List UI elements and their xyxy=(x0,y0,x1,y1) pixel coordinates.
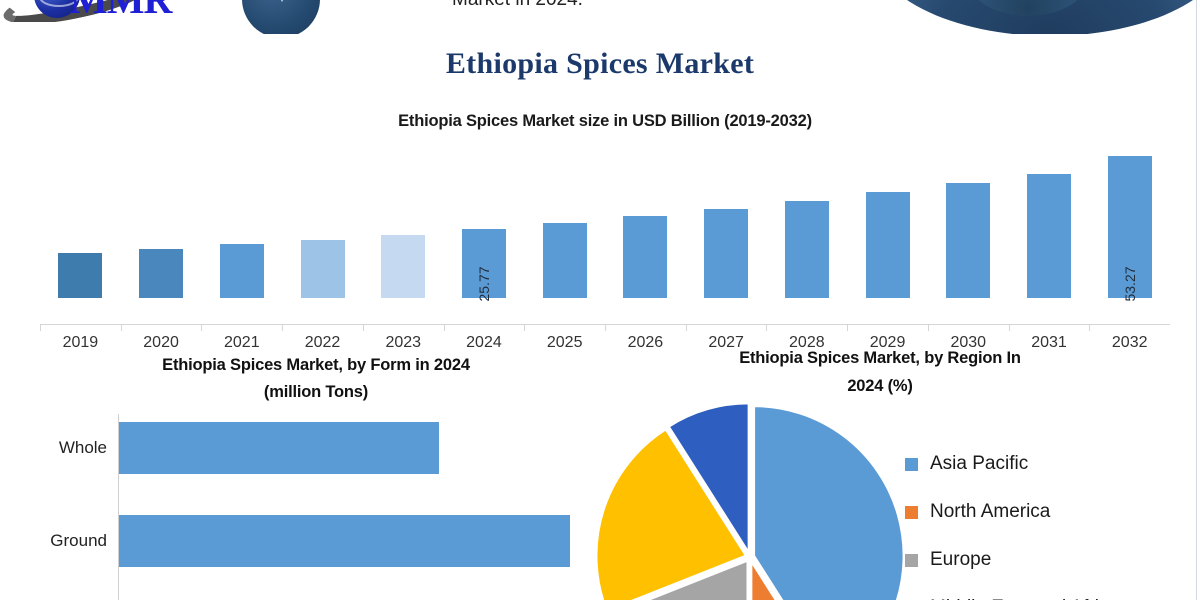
by-form-row-whole: Whole xyxy=(119,422,589,474)
legend-label: Europe xyxy=(930,549,991,571)
bar-2028[interactable] xyxy=(785,201,829,298)
bar-chart-plot-area: 25.7753.27 20192020202120222023202420252… xyxy=(40,138,1170,298)
by-region-title-line2: 2024 (%) xyxy=(847,377,912,395)
x-axis-tick xyxy=(1009,324,1090,332)
infographic-page: MMR Market in 2024. Ethiopia Spices Mark… xyxy=(0,0,1200,600)
bar-value-label: 25.77 xyxy=(476,266,492,301)
by-form-title-line2: (million Tons) xyxy=(264,383,368,401)
navy-circle-badge-icon xyxy=(242,0,320,34)
by-form-category-label: Whole xyxy=(59,438,107,458)
logo-text: MMR xyxy=(70,0,171,22)
x-axis-tick xyxy=(766,324,847,332)
bar-2030[interactable] xyxy=(946,183,990,298)
bar-2026[interactable] xyxy=(623,216,667,298)
legend-item[interactable]: Asia Pacific xyxy=(905,440,1200,488)
bar-cell xyxy=(40,138,121,298)
x-axis-label-2023: 2023 xyxy=(363,334,444,352)
bar-cell: 25.77 xyxy=(444,138,525,298)
x-axis-tick xyxy=(121,324,202,332)
x-axis-tick xyxy=(686,324,767,332)
legend-item[interactable]: Middle East and Africa xyxy=(905,584,1200,600)
bar-2022[interactable] xyxy=(301,240,345,298)
x-axis-label-2024: 2024 xyxy=(444,334,525,352)
header-note: Market in 2024. xyxy=(452,0,782,13)
by-form-bar-ground[interactable] xyxy=(119,515,570,567)
header-band: MMR Market in 2024. xyxy=(0,0,1200,34)
x-axis-tick xyxy=(1089,324,1170,332)
bar-2023[interactable] xyxy=(381,235,425,298)
x-axis-label-2020: 2020 xyxy=(121,334,202,352)
by-form-plot-area: WholeGround xyxy=(118,414,588,600)
bar-2024[interactable]: 25.77 xyxy=(462,229,506,298)
pie-slice-asia-pacific[interactable] xyxy=(754,406,904,600)
by-form-chart-title: Ethiopia Spices Market, by Form in 2024 … xyxy=(36,352,596,406)
bar-2029[interactable] xyxy=(866,192,910,298)
page-title: Ethiopia Spices Market xyxy=(0,47,1200,81)
x-axis-tick xyxy=(282,324,363,332)
x-axis-ticks xyxy=(40,324,1170,332)
bar-cell xyxy=(847,138,928,298)
x-axis-tick xyxy=(444,324,525,332)
x-axis-tick xyxy=(363,324,444,332)
x-axis-tick xyxy=(847,324,928,332)
x-axis-tick xyxy=(605,324,686,332)
x-axis-label-2019: 2019 xyxy=(40,334,121,352)
bar-cell xyxy=(766,138,847,298)
page-right-border xyxy=(1196,0,1197,600)
by-region-pie-chart: Ethiopia Spices Market, by Region In 202… xyxy=(600,344,1200,600)
bar-cell xyxy=(201,138,282,298)
bar-2031[interactable] xyxy=(1027,174,1071,298)
market-size-bar-chart: Ethiopia Spices Market size in USD Billi… xyxy=(40,112,1170,327)
x-axis-tick xyxy=(524,324,605,332)
bar-cell xyxy=(282,138,363,298)
bar-2020[interactable] xyxy=(139,249,183,298)
bar-cell xyxy=(1009,138,1090,298)
bar-cell xyxy=(605,138,686,298)
bar-cell xyxy=(363,138,444,298)
bar-2019[interactable] xyxy=(58,253,102,298)
pie-svg xyxy=(595,402,905,600)
x-axis-label-2021: 2021 xyxy=(201,334,282,352)
legend-item[interactable]: Europe xyxy=(905,536,1200,584)
bar-cell xyxy=(686,138,767,298)
by-region-chart-title: Ethiopia Spices Market, by Region In 202… xyxy=(630,344,1130,400)
legend-label: North America xyxy=(930,501,1050,523)
badge-chevron-icon xyxy=(274,0,290,2)
bar-cell xyxy=(928,138,1009,298)
bar-series: 25.7753.27 xyxy=(40,138,1170,298)
mmr-logo[interactable]: MMR xyxy=(0,0,215,22)
bar-value-label: 53.27 xyxy=(1122,266,1138,301)
by-form-category-label: Ground xyxy=(50,531,107,551)
x-axis-tick xyxy=(40,324,121,332)
bar-chart-title: Ethiopia Spices Market size in USD Billi… xyxy=(40,112,1170,131)
x-axis-tick xyxy=(201,324,282,332)
by-form-row-ground: Ground xyxy=(119,515,589,567)
legend-label: Asia Pacific xyxy=(930,453,1028,475)
bar-2021[interactable] xyxy=(220,244,264,298)
pie-legend: Asia PacificNorth AmericaEuropeMiddle Ea… xyxy=(905,440,1200,600)
legend-swatch-icon xyxy=(905,506,918,519)
bar-cell xyxy=(524,138,605,298)
pie-graphic xyxy=(595,402,905,600)
bar-2032[interactable]: 53.27 xyxy=(1108,156,1152,298)
x-axis-label-2022: 2022 xyxy=(282,334,363,352)
x-axis-label-2025: 2025 xyxy=(524,334,605,352)
bar-2027[interactable] xyxy=(704,209,748,298)
by-region-title-line1: Ethiopia Spices Market, by Region In xyxy=(739,349,1021,367)
by-form-bar-whole[interactable] xyxy=(119,422,439,474)
legend-item[interactable]: North America xyxy=(905,488,1200,536)
bar-cell xyxy=(121,138,202,298)
by-form-title-line1: Ethiopia Spices Market, by Form in 2024 xyxy=(162,356,470,374)
bar-cell: 53.27 xyxy=(1089,138,1170,298)
x-axis-tick xyxy=(928,324,1009,332)
legend-swatch-icon xyxy=(905,458,918,471)
bar-2025[interactable] xyxy=(543,223,587,298)
legend-swatch-icon xyxy=(905,554,918,567)
by-form-bar-chart: Ethiopia Spices Market, by Form in 2024 … xyxy=(18,352,598,600)
